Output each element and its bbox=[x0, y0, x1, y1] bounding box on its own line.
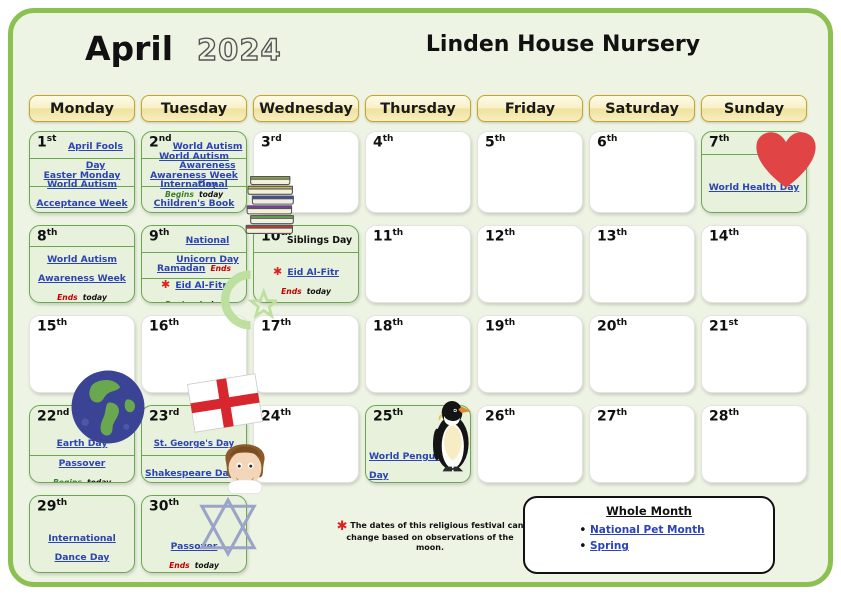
organisation-title: Linden House Nursery bbox=[313, 32, 813, 57]
event-status-line: Begins today bbox=[33, 470, 131, 483]
event-line: International Children's Book Day bbox=[145, 172, 243, 213]
event-status: Begins bbox=[53, 478, 82, 483]
day-number-value: 4 bbox=[373, 135, 383, 151]
day-10-inline-event: Siblings Day bbox=[284, 228, 355, 247]
day-number-value: 23 bbox=[149, 409, 168, 425]
event-label[interactable]: World Health Day bbox=[709, 182, 800, 193]
weekday-header-wednesday: Wednesday bbox=[253, 95, 359, 122]
day-29-event-row: International Dance Day bbox=[30, 516, 134, 573]
day-number-ordinal: nd bbox=[159, 134, 172, 144]
day-number-ordinal: th bbox=[728, 228, 739, 238]
day-number-ordinal: rd bbox=[168, 408, 179, 418]
day-number-ordinal: th bbox=[616, 228, 627, 238]
day-number-value: 17 bbox=[261, 319, 280, 335]
day-number-value: 10 bbox=[261, 229, 280, 245]
event-line: World Penguin Day bbox=[369, 444, 467, 482]
day-cell-9: 9thNational Unicorn DayRamadan Ends✱ Eid… bbox=[141, 225, 247, 303]
day-cell-20: 20th bbox=[589, 315, 695, 393]
day-number-7: 7th bbox=[709, 135, 729, 150]
day-cell-14: 14th bbox=[701, 225, 807, 303]
day-cell-2: 2ndWorld Autism Awareness DayWorld Autis… bbox=[141, 131, 247, 213]
weekday-header-saturday: Saturday bbox=[589, 95, 695, 122]
day-number-value: 25 bbox=[373, 409, 392, 425]
day-number-ordinal: th bbox=[383, 134, 394, 144]
day-number-24: 24th bbox=[261, 409, 291, 424]
day-number-value: 22 bbox=[37, 409, 56, 425]
day-number-1: 1st bbox=[37, 135, 56, 150]
event-line: Earth Day bbox=[33, 431, 131, 450]
day-cell-30: 30thPassoverEnds today bbox=[141, 495, 247, 573]
day-30-event-row: PassoverEnds today bbox=[142, 516, 246, 573]
event-status-today: today bbox=[307, 287, 331, 296]
event-label[interactable]: Passover bbox=[59, 458, 106, 469]
whole-month-title: Whole Month bbox=[525, 504, 773, 518]
day-number-ordinal: th bbox=[392, 228, 403, 238]
day-number-5: 5th bbox=[485, 135, 505, 150]
day-number-ordinal: th bbox=[168, 318, 179, 328]
event-status-line: Ends today bbox=[145, 553, 243, 572]
day-cell-25: 25thWorld Penguin Day bbox=[365, 405, 471, 483]
event-status: Begins bbox=[165, 300, 194, 304]
day-number-ordinal: th bbox=[56, 318, 67, 328]
day-number-25: 25th bbox=[373, 409, 403, 424]
day-number-21: 21st bbox=[709, 319, 738, 334]
day-number-value: 6 bbox=[597, 135, 607, 151]
bullet-icon: • bbox=[579, 525, 590, 536]
month-title: April bbox=[85, 29, 173, 68]
event-status: Ends bbox=[169, 561, 190, 570]
event-line: St. George's Day bbox=[145, 431, 243, 450]
event-line: ✱ Eid Al-Fitr bbox=[257, 260, 355, 279]
day-number-value: 3 bbox=[261, 135, 271, 151]
day-number-ordinal: th bbox=[719, 134, 730, 144]
day-number-11: 11th bbox=[373, 229, 403, 244]
poster-header: April 2024 Linden House Nursery bbox=[13, 13, 828, 85]
day-number-value: 29 bbox=[37, 499, 56, 515]
day-cell-17: 17th bbox=[253, 315, 359, 393]
event-status-line: Begins today bbox=[145, 292, 243, 304]
day-25-event-row: World Penguin Day bbox=[366, 426, 470, 483]
day-number-value: 1 bbox=[37, 135, 47, 151]
day-cell-4: 4th bbox=[365, 131, 471, 213]
day-number-17: 17th bbox=[261, 319, 291, 334]
day-cell-12: 12th bbox=[477, 225, 583, 303]
day-number-6: 6th bbox=[597, 135, 617, 150]
whole-month-list: •National Pet Month•Spring bbox=[579, 524, 705, 556]
event-status-today: today bbox=[199, 300, 223, 304]
weekday-header-row: MondayTuesdayWednesdayThursdayFridaySatu… bbox=[25, 95, 825, 123]
day-number-value: 26 bbox=[485, 409, 504, 425]
day-23-event-row: Shakespeare Day bbox=[142, 455, 246, 483]
weekday-header-thursday: Thursday bbox=[365, 95, 471, 122]
day-number-ordinal: nd bbox=[56, 408, 69, 418]
day-number-value: 18 bbox=[373, 319, 392, 335]
day-number-ordinal: st bbox=[47, 134, 57, 144]
day-number-23: 23rd bbox=[149, 409, 179, 424]
day-cell-15: 15th bbox=[29, 315, 135, 393]
day-number-ordinal: th bbox=[728, 408, 739, 418]
day-number-ordinal: th bbox=[504, 228, 515, 238]
event-label[interactable]: World Autism Awareness Week bbox=[38, 254, 126, 284]
day-8-event-row: World Autism Awareness WeekEnds today bbox=[30, 246, 134, 303]
calendar-poster: April 2024 Linden House Nursery MondayTu… bbox=[8, 8, 833, 587]
day-9-event-row: ✱ Eid Al-FitrBegins today bbox=[142, 278, 246, 303]
event-status: Ends bbox=[281, 287, 302, 296]
day-cell-19: 19th bbox=[477, 315, 583, 393]
day-2-event-row: International Children's Book Day bbox=[142, 186, 246, 213]
day-number-value: 21 bbox=[709, 319, 728, 335]
event-line: Passover bbox=[33, 451, 131, 470]
day-number-26: 26th bbox=[485, 409, 515, 424]
day-cell-6: 6th bbox=[589, 131, 695, 213]
day-number-14: 14th bbox=[709, 229, 739, 244]
day-number-ordinal: th bbox=[56, 498, 67, 508]
day-number-ordinal: th bbox=[47, 228, 58, 238]
day-number-20: 20th bbox=[597, 319, 627, 334]
day-number-value: 30 bbox=[149, 499, 168, 515]
event-line: Passover bbox=[145, 534, 243, 553]
event-line: International Dance Day bbox=[33, 526, 131, 564]
day-number-ordinal: rd bbox=[271, 134, 282, 144]
whole-month-box: Whole Month •National Pet Month•Spring bbox=[523, 496, 775, 574]
event-line: Shakespeare Day bbox=[145, 461, 243, 480]
event-status-line: Ends today bbox=[257, 279, 355, 298]
day-number-8: 8th bbox=[37, 229, 57, 244]
whole-month-item: •Spring bbox=[579, 540, 705, 552]
day-cell-7: 7thWorld Health Day bbox=[701, 131, 807, 213]
event-label[interactable]: World Penguin Day bbox=[369, 451, 445, 481]
weekday-header-monday: Monday bbox=[29, 95, 135, 122]
day-7-event-row: World Health Day bbox=[702, 154, 806, 213]
event-status-today: today bbox=[195, 561, 219, 570]
event-label[interactable]: Earth Day bbox=[57, 438, 108, 449]
day-cell-23: 23rdSt. George's DayShakespeare Day bbox=[141, 405, 247, 483]
day-number-value: 12 bbox=[485, 229, 504, 245]
day-number-22: 22nd bbox=[37, 409, 69, 424]
day-cell-26: 26th bbox=[477, 405, 583, 483]
day-number-29: 29th bbox=[37, 499, 67, 514]
day-number-value: 27 bbox=[597, 409, 616, 425]
day-cell-27: 27th bbox=[589, 405, 695, 483]
day-cell-29: 29thInternational Dance Day bbox=[29, 495, 135, 573]
day-cell-21: 21st bbox=[701, 315, 807, 393]
day-number-value: 5 bbox=[485, 135, 495, 151]
day-number-ordinal: th bbox=[504, 318, 515, 328]
day-number-ordinal: th bbox=[616, 318, 627, 328]
day-number-ordinal: th bbox=[616, 408, 627, 418]
day-number-ordinal: st bbox=[728, 318, 738, 328]
event-status: Ends bbox=[57, 293, 78, 302]
bullet-icon: • bbox=[579, 541, 590, 552]
event-status-today: today bbox=[87, 478, 111, 483]
day-number-13: 13th bbox=[597, 229, 627, 244]
year-title: 2024 bbox=[197, 33, 282, 67]
day-22-event-row: PassoverBegins today bbox=[30, 455, 134, 483]
day-cell-1: 1stApril Fools DayEaster MondayWorld Aut… bbox=[29, 131, 135, 213]
day-number-ordinal: th bbox=[280, 408, 291, 418]
day-cell-5: 5th bbox=[477, 131, 583, 213]
day-number-value: 15 bbox=[37, 319, 56, 335]
day-cell-28: 28th bbox=[701, 405, 807, 483]
day-number-ordinal: th bbox=[607, 134, 618, 144]
day-number-ordinal: th bbox=[495, 134, 506, 144]
event-label[interactable]: International Dance Day bbox=[48, 533, 116, 563]
event-label[interactable]: Eid Al-Fitr bbox=[287, 267, 339, 278]
day-cell-8: 8thWorld Autism Awareness WeekEnds today bbox=[29, 225, 135, 303]
day-cell-22: 22ndEarth DayPassoverBegins today bbox=[29, 405, 135, 483]
event-label[interactable]: World Autism Acceptance Week bbox=[36, 179, 127, 209]
event-label[interactable]: St. George's Day bbox=[154, 439, 235, 449]
event-line: World Autism Acceptance Week (TBC) bbox=[33, 172, 131, 213]
whole-month-item: •National Pet Month bbox=[579, 524, 705, 536]
day-number-value: 8 bbox=[37, 229, 47, 245]
day-number-value: 19 bbox=[485, 319, 504, 335]
whole-month-link[interactable]: Spring bbox=[590, 540, 629, 552]
day-number-ordinal: th bbox=[168, 498, 179, 508]
day-number-value: 11 bbox=[373, 229, 392, 245]
day-number-4: 4th bbox=[373, 135, 393, 150]
day-cell-10: 10thSiblings Day✱ Eid Al-FitrEnds today bbox=[253, 225, 359, 303]
event-label: Siblings Day bbox=[287, 235, 352, 246]
day-1-event-row: World Autism Acceptance Week (TBC) bbox=[30, 186, 134, 213]
day-number-3: 3rd bbox=[261, 135, 282, 150]
day-number-value: 20 bbox=[597, 319, 616, 335]
day-cell-16: 16th bbox=[141, 315, 247, 393]
day-cell-11: 11th bbox=[365, 225, 471, 303]
day-cell-24: 24th bbox=[253, 405, 359, 483]
event-status-line: Ends today bbox=[33, 285, 131, 303]
day-number-value: 28 bbox=[709, 409, 728, 425]
day-number-27: 27th bbox=[597, 409, 627, 424]
religious-festival-footnote: ✱ The dates of this religious festival c… bbox=[335, 521, 525, 554]
day-number-value: 7 bbox=[709, 135, 719, 151]
event-label[interactable]: Eid Al-Fitr bbox=[175, 280, 227, 291]
day-number-ordinal: th bbox=[392, 318, 403, 328]
day-number-value: 14 bbox=[709, 229, 728, 245]
day-number-value: 13 bbox=[597, 229, 616, 245]
day-number-30: 30th bbox=[149, 499, 179, 514]
day-number-12: 12th bbox=[485, 229, 515, 244]
day-number-16: 16th bbox=[149, 319, 179, 334]
weekday-header-friday: Friday bbox=[477, 95, 583, 122]
weekday-header-sunday: Sunday bbox=[701, 95, 807, 122]
day-number-19: 19th bbox=[485, 319, 515, 334]
day-number-ordinal: th bbox=[159, 228, 170, 238]
event-line: World Health Day bbox=[705, 175, 803, 194]
day-number-28: 28th bbox=[709, 409, 739, 424]
day-number-15: 15th bbox=[37, 319, 67, 334]
event-status-today: today bbox=[83, 293, 107, 302]
day-number-value: 16 bbox=[149, 319, 168, 335]
day-cell-3: 3rd bbox=[253, 131, 359, 213]
day-number-9: 9th bbox=[149, 229, 169, 244]
moon-observation-star-icon: ✱ bbox=[161, 278, 170, 291]
event-line: World Autism Awareness Week bbox=[33, 247, 131, 285]
day-cell-13: 13th bbox=[589, 225, 695, 303]
day-number-value: 9 bbox=[149, 229, 159, 245]
footnote-text: The dates of this religious festival can… bbox=[346, 521, 523, 552]
day-number-ordinal: th bbox=[504, 408, 515, 418]
day-10-event-row: ✱ Eid Al-FitrEnds today bbox=[254, 252, 358, 303]
event-label[interactable]: Passover bbox=[171, 541, 218, 552]
event-line: ✱ Eid Al-Fitr bbox=[145, 273, 243, 292]
day-cell-18: 18th bbox=[365, 315, 471, 393]
moon-observation-star-icon: ✱ bbox=[273, 265, 282, 278]
day-number-18: 18th bbox=[373, 319, 403, 334]
weekday-header-tuesday: Tuesday bbox=[141, 95, 247, 122]
event-label[interactable]: International Children's Book Day bbox=[154, 179, 235, 213]
whole-month-link[interactable]: National Pet Month bbox=[590, 524, 705, 536]
day-23-event-row: St. George's Day bbox=[142, 426, 246, 455]
day-number-ordinal: th bbox=[280, 318, 291, 328]
event-label[interactable]: Shakespeare Day bbox=[145, 468, 234, 479]
day-number-value: 24 bbox=[261, 409, 280, 425]
day-number-ordinal: th bbox=[392, 408, 403, 418]
